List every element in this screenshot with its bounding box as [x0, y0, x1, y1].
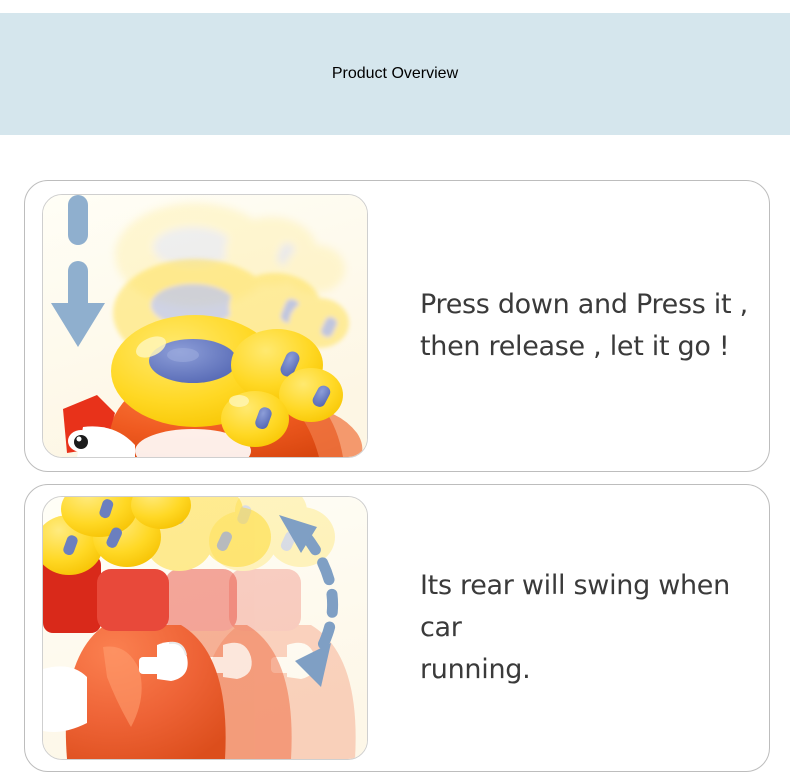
- toy-press-down-illustration: [43, 195, 367, 457]
- page-title: Product Overview: [332, 65, 458, 83]
- feature-card-rear-swing: Its rear will swing when car running.: [24, 484, 770, 772]
- toy-rear-swing-illustration: [43, 497, 367, 759]
- page-header-banner: Product Overview: [0, 13, 790, 135]
- toy-press-down-photo: [42, 194, 368, 458]
- feature-card-press-down: Press down and Press it , then release ,…: [24, 180, 770, 472]
- card-caption-rear-swing: Its rear will swing when car running.: [420, 565, 769, 691]
- card-caption-press-down: Press down and Press it , then release ,…: [420, 284, 748, 368]
- toy-rear-swing-photo: [42, 496, 368, 760]
